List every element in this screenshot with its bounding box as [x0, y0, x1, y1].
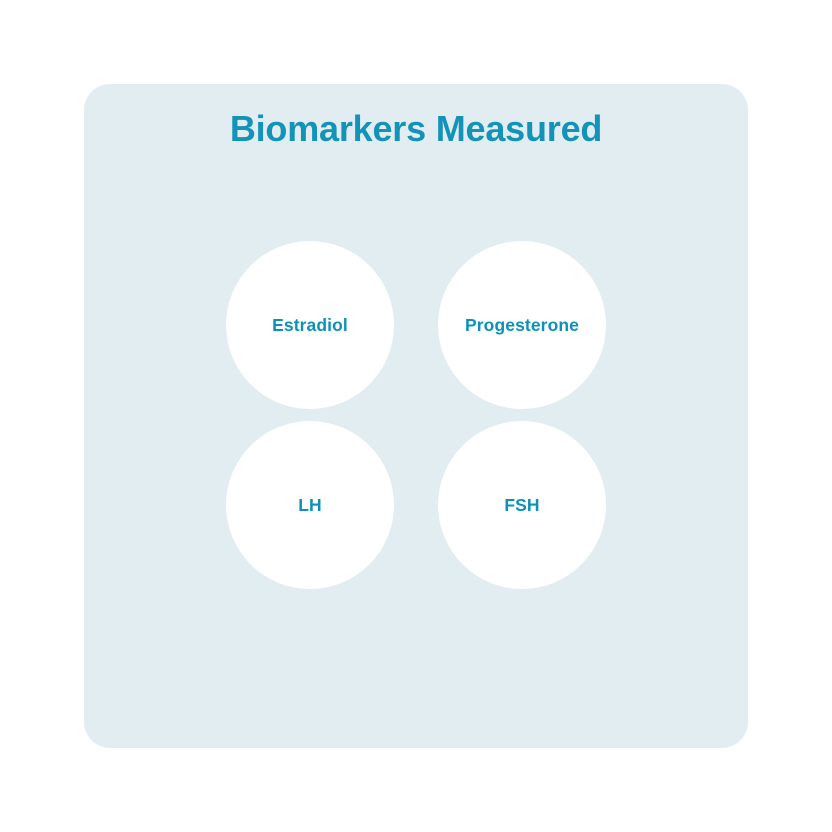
biomarker-circle-estradiol[interactable]: Estradiol: [226, 241, 394, 409]
page-title: Biomarkers Measured: [84, 108, 748, 149]
biomarkers-card: Biomarkers Measured Estradiol Progestero…: [84, 84, 748, 748]
biomarker-circle-lh[interactable]: LH: [226, 421, 394, 589]
biomarker-label: LH: [292, 495, 328, 516]
biomarker-label: Estradiol: [266, 315, 354, 336]
biomarker-label: FSH: [498, 495, 545, 516]
biomarker-circle-fsh[interactable]: FSH: [438, 421, 606, 589]
biomarker-circle-progesterone[interactable]: Progesterone: [438, 241, 606, 409]
page-canvas: Biomarkers Measured Estradiol Progestero…: [0, 0, 832, 832]
biomarker-grid: Estradiol Progesterone LH FSH: [226, 241, 606, 589]
biomarker-label: Progesterone: [459, 315, 585, 336]
